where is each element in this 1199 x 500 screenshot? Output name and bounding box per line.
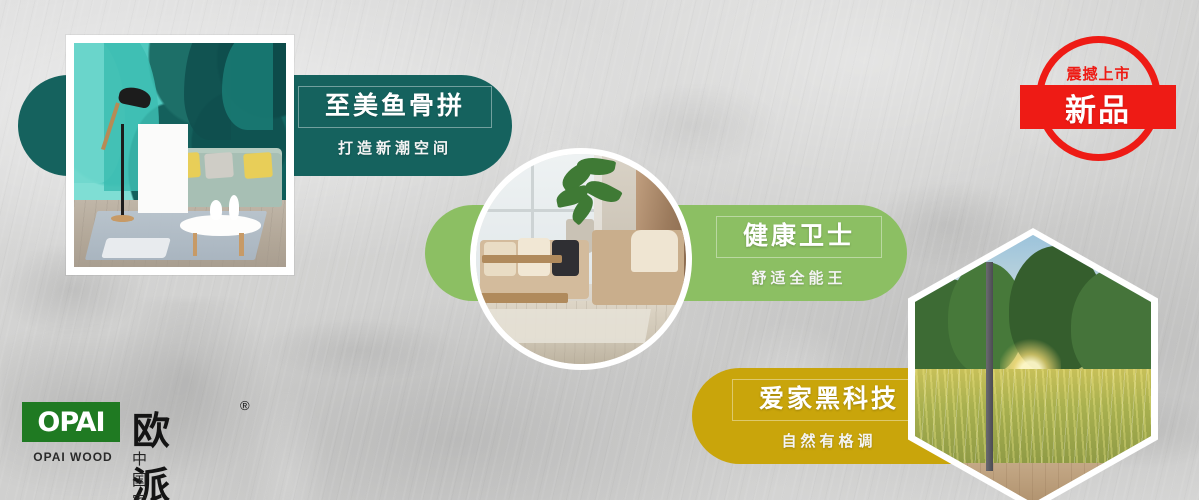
panel-green-text: 健康卫士 舒适全能王 (700, 216, 898, 288)
logo-english-name: OPAI WOOD (28, 450, 118, 464)
wildflower-meadow (915, 369, 1151, 465)
panel-yellow-title: 爱家黑科技 (759, 384, 899, 414)
vase-2 (229, 195, 240, 220)
badge-top-text: 震撼上市 (1036, 63, 1161, 84)
table-front-rail (480, 293, 568, 304)
new-product-badge[interactable]: 震撼上市 新品 (1020, 28, 1178, 178)
logo-slogan: 中国家庭 一个信赖 (132, 448, 166, 500)
badge-main-text: 新品 (1020, 85, 1176, 129)
floor-lamp-pole (121, 124, 124, 218)
pillow-yellow-2 (243, 152, 272, 178)
window-post (986, 262, 994, 471)
registered-trademark-icon: ® (240, 398, 250, 413)
table-leg-1 (193, 233, 198, 255)
logo-mark: OPAI (22, 402, 120, 442)
chair-back (631, 230, 677, 272)
panel-green-title-box: 健康卫士 (716, 216, 882, 258)
wood-floor (915, 463, 1151, 500)
panel-yellow-subtitle: 自然有格调 (730, 430, 928, 451)
panel-teal-title: 至美鱼骨拼 (325, 91, 465, 121)
panel-teal-text: 至美鱼骨拼 打造新潮空间 (296, 86, 494, 158)
panel-teal-subtitle: 打造新潮空间 (296, 137, 494, 158)
side-table-top (482, 255, 562, 263)
promotional-banner: 至美鱼骨拼 打造新潮空间 (0, 0, 1199, 500)
photo-hexagon-nature[interactable] (908, 228, 1158, 500)
photo-circle-wood-furniture[interactable] (470, 148, 692, 370)
panel-green-title: 健康卫士 (743, 221, 855, 251)
photo-square-living-room[interactable] (66, 35, 294, 275)
table-leg-2 (239, 233, 244, 255)
floor-mat (481, 309, 651, 343)
panel-teal-title-box: 至美鱼骨拼 (298, 86, 492, 128)
panel-green-subtitle: 舒适全能王 (700, 267, 898, 288)
panel-yellow-title-box: 爱家黑科技 (732, 379, 926, 421)
panel-yellow-text: 爱家黑科技 自然有格调 (730, 379, 928, 451)
vase-1 (210, 200, 223, 220)
logo-mark-text: OPAI (37, 407, 104, 438)
area-rug-highlight (101, 238, 170, 258)
bookshelf (138, 124, 189, 214)
pillow-grey (205, 152, 234, 178)
logo-slogan-part1: 中国家庭 (132, 450, 150, 500)
